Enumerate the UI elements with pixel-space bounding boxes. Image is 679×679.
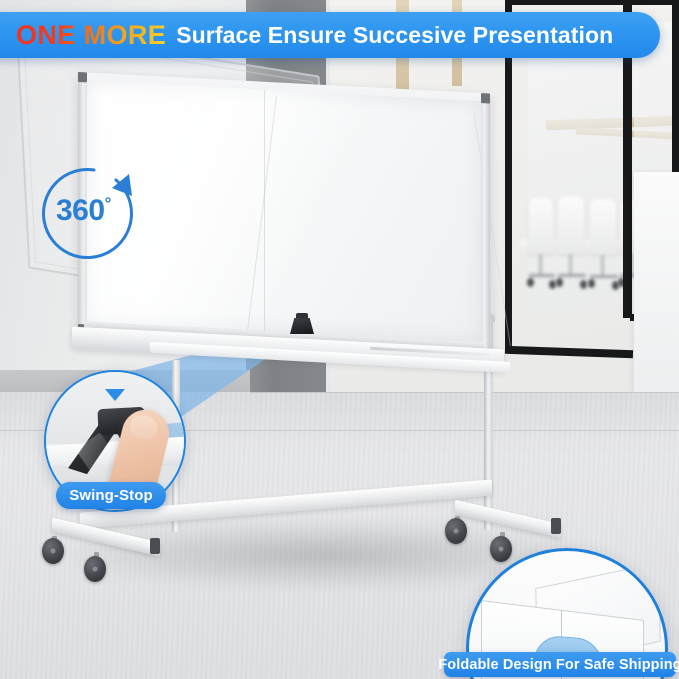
rotation-badge-label: 360° — [56, 194, 111, 228]
frame-corner-top-right — [481, 93, 490, 103]
degree-symbol: ° — [105, 194, 111, 213]
headline-banner: ONE MORE Surface Ensure Succesive Presen… — [0, 12, 660, 58]
surface-reflection-diagonal — [246, 96, 278, 343]
headline-main-text: Surface Ensure Succesive Presentation — [176, 22, 613, 49]
caster-wheel[interactable] — [445, 518, 467, 544]
caster-wheel[interactable] — [42, 538, 64, 564]
headline-accent-text: ONE MORE — [16, 20, 166, 51]
caster-hub — [499, 547, 504, 552]
product-feature-image: 360° Swing-Stop Foldable Design For Safe… — [0, 0, 679, 679]
caster-wheel[interactable] — [490, 536, 512, 562]
caster-hub — [454, 529, 459, 534]
caster-wheel[interactable] — [84, 556, 106, 582]
base-foot-right — [455, 500, 561, 538]
frame-corner-top-left — [78, 72, 87, 82]
rotation-badge-value: 360 — [56, 194, 105, 227]
frame-edge-right — [481, 93, 490, 355]
callout-label-swing-stop: Swing-Stop — [56, 482, 166, 509]
down-triangle-icon — [105, 389, 125, 401]
caster-hub — [51, 549, 56, 554]
surface-reflection-diagonal-2 — [473, 110, 511, 345]
caster-hub — [93, 567, 98, 572]
callout-label-foldable-design: Foldable Design For Safe Shipping — [444, 652, 676, 677]
fingernail — [128, 413, 160, 442]
foot-end-cap-left — [150, 538, 160, 554]
surface-reflection-line — [264, 90, 265, 331]
rotation-badge-360: 360° — [34, 158, 164, 266]
foot-end-cap-right — [551, 518, 561, 534]
